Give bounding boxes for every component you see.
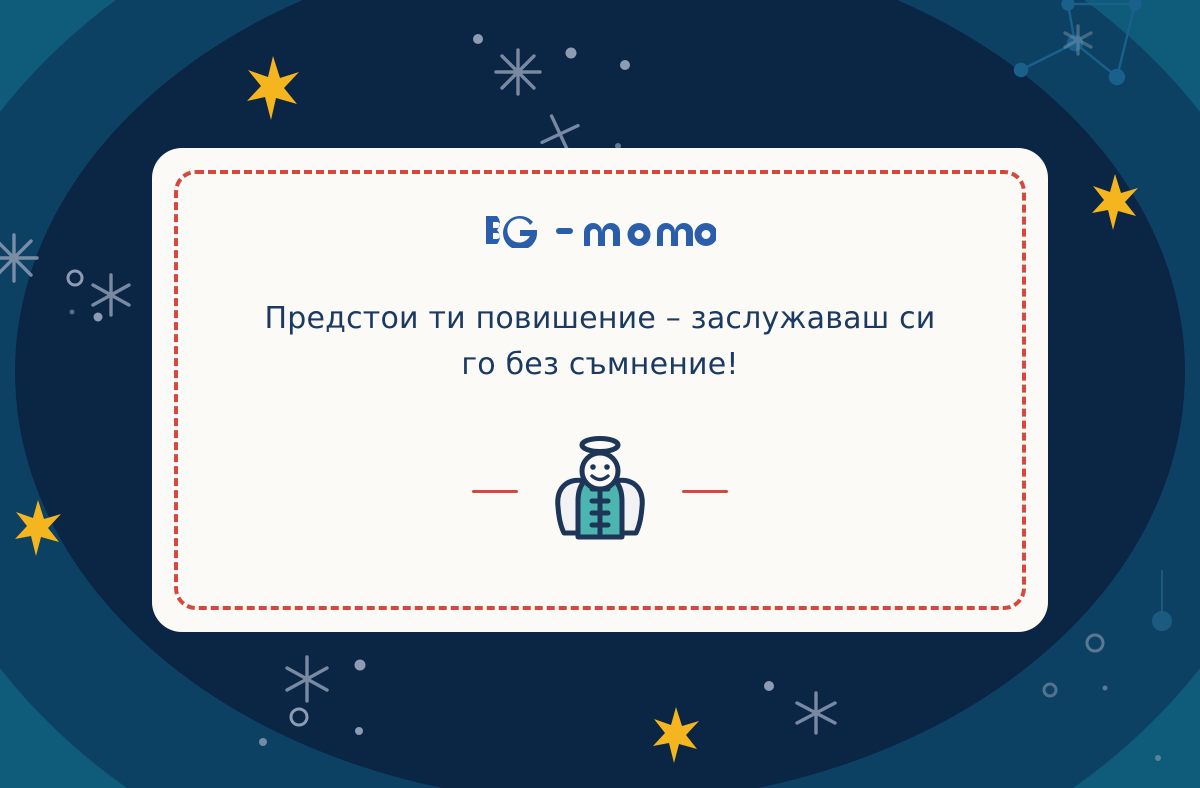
eye-left [590,464,596,470]
dot-icon [566,48,577,59]
promo-message-line-2: го без съмнение! [250,342,950,388]
dot-icon [764,681,774,691]
sparkle-icon [496,50,540,94]
promo-message: Предстои ти повишение – заслужаваш си го… [250,296,950,387]
eye-right [604,464,610,470]
divider-left [472,490,518,493]
promo-message-line-1: Предстои ти повишение – заслужаваш си [250,296,950,342]
divider-right [682,490,728,493]
promo-card-stage: BG-MAMMA [0,0,1200,788]
head [582,453,618,489]
dot-icon [94,313,103,322]
dot-icon [620,60,630,70]
dot-icon [355,727,363,735]
dot-icon [1155,755,1161,761]
dot-icon [473,34,483,44]
dot-icon [70,310,75,315]
illustration-row [472,433,728,549]
dot-icon [1103,686,1108,691]
bg-mamma-logo[interactable]: BG-MAMMA [484,214,716,248]
halo-icon [582,439,618,452]
dot-icon [355,660,366,671]
promo-card: BG-MAMMA [152,148,1048,632]
angel-icon [546,433,654,549]
dot-icon [259,738,267,746]
